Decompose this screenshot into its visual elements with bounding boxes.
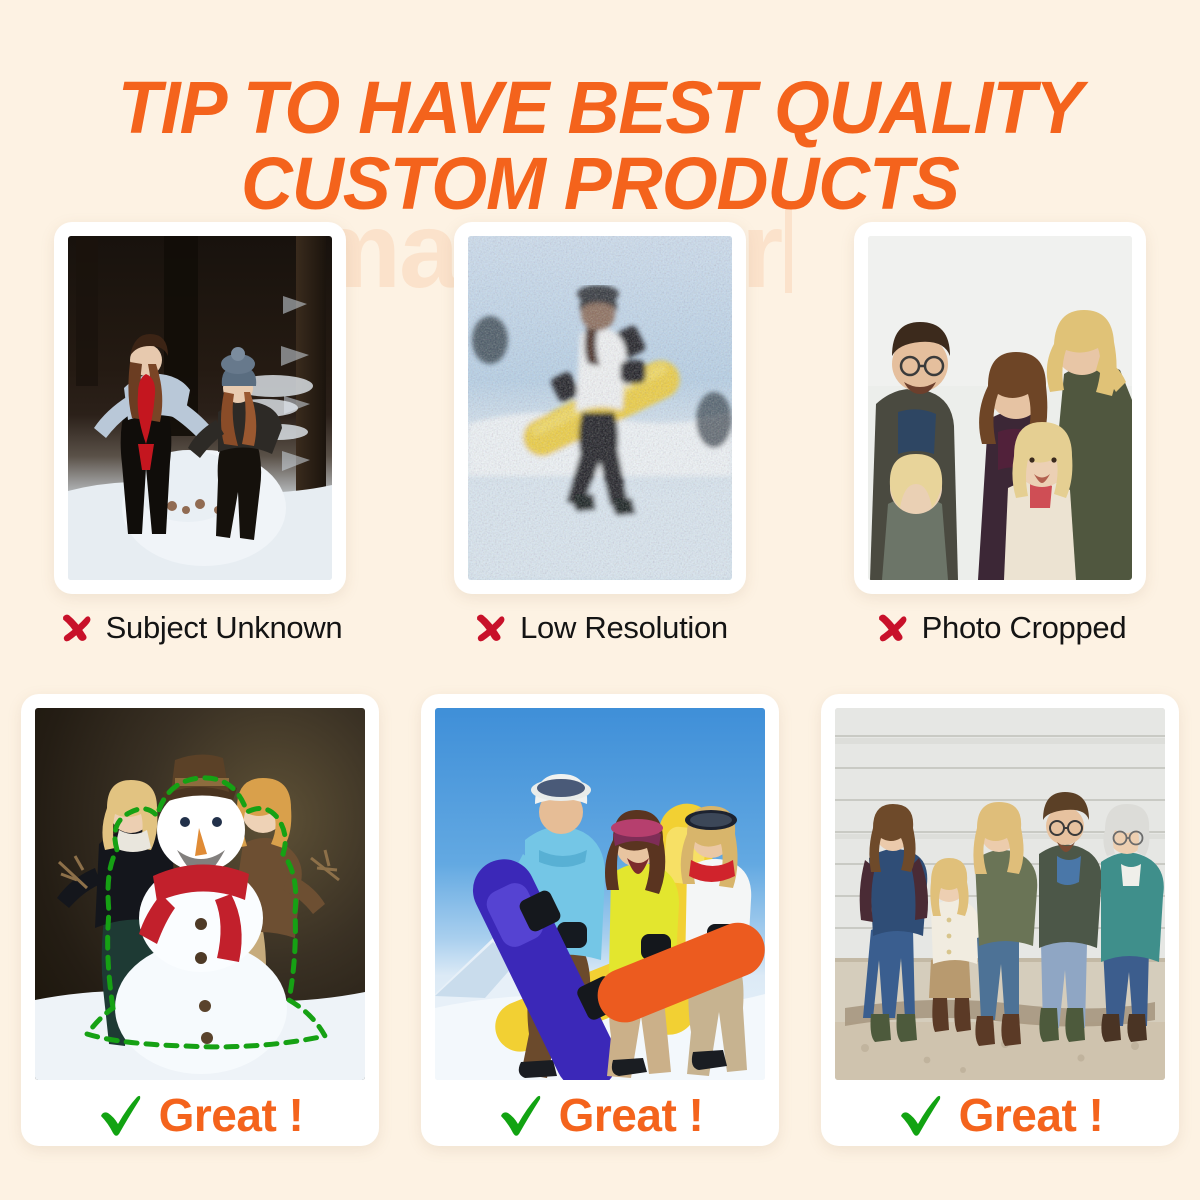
check-icon [897,1092,943,1138]
example-card-great-snowboarders: Great ! [400,694,800,1146]
verdict-row: Great ! [435,1082,765,1148]
verdict-label: Great ! [159,1088,304,1142]
verdict-label: Photo Cropped [922,610,1127,646]
verdict-label: Low Resolution [520,610,728,646]
poster-canvas: macorner TIP TO HAVE BEST QUALITY CUSTOM… [0,0,1200,1200]
verdict-label: Great ! [559,1088,704,1142]
cross-icon [874,611,908,645]
photo-great-family [835,708,1165,1080]
verdict-row: Great ! [835,1082,1165,1148]
family-wood-wall-illustration [835,708,1165,1080]
verdict-row: Photo Cropped [874,610,1127,646]
photo-great-snowman [35,708,365,1080]
cross-icon [472,611,506,645]
photo-cropped [868,236,1132,580]
examples-grid: Subject Unknown [0,222,1200,1146]
example-card-great-snowman: Great ! [0,694,400,1146]
verdict-row: Great ! [35,1082,365,1148]
photo-card: Great ! [821,694,1179,1146]
check-icon [497,1092,543,1138]
snowboarders-illustration [435,708,765,1080]
example-card-low-resolution: Low Resolution [400,222,800,646]
page-title: TIP TO HAVE BEST QUALITY CUSTOM PRODUCTS [18,70,1182,222]
example-card-great-family: Great ! [800,694,1200,1146]
snowman-scene-illustration [35,708,365,1080]
page-title-line-2: CUSTOM PRODUCTS [18,146,1182,222]
photo-subject-unknown [68,236,332,580]
photo-great-snowboarders [435,708,765,1080]
check-icon [97,1092,143,1138]
verdict-row: Low Resolution [472,610,728,646]
verdict-label: Great ! [959,1088,1104,1142]
verdict-label: Subject Unknown [106,610,343,646]
photo-card [54,222,346,594]
photo-card [454,222,746,594]
photo-card: Great ! [421,694,779,1146]
page-title-line-1: TIP TO HAVE BEST QUALITY [18,70,1182,146]
photo-low-resolution [468,236,732,580]
forest-scene-illustration [68,236,332,580]
example-card-photo-cropped: Photo Cropped [800,222,1200,646]
example-card-subject-unknown: Subject Unknown [0,222,400,646]
cross-icon [58,611,92,645]
photo-card: Great ! [21,694,379,1146]
cropped-family-illustration [868,236,1132,580]
photo-card [854,222,1146,594]
verdict-row: Subject Unknown [58,610,343,646]
lowres-snowboarder-illustration [468,236,732,580]
